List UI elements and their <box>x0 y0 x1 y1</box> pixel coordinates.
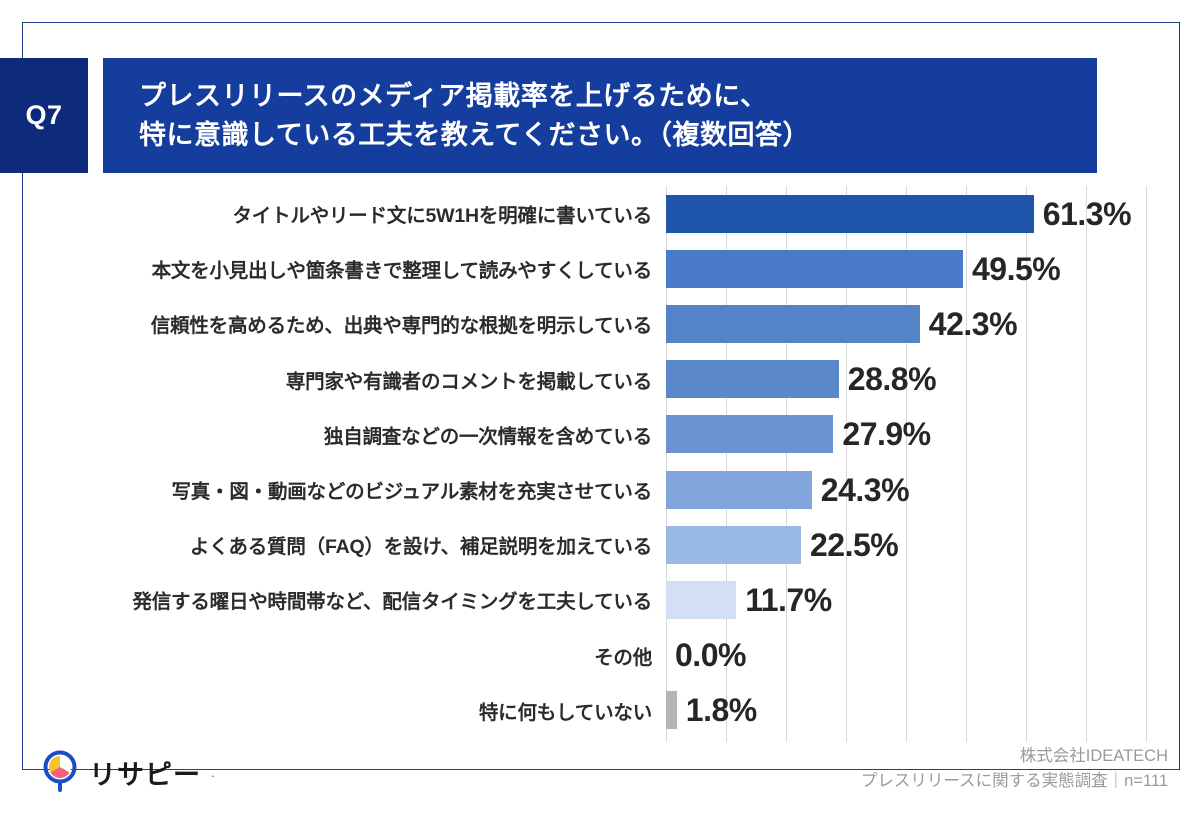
bar-category-label: よくある質問（FAQ）を設け、補足説明を加えている <box>46 530 666 559</box>
bar-rows: タイトルやリード文に5W1Hを明確に書いている61.3%本文を小見出しや箇条書き… <box>22 186 1180 738</box>
brand-name-dot: . <box>211 765 215 780</box>
bar <box>666 526 801 564</box>
bar <box>666 360 839 398</box>
bar-category-label: 本文を小見出しや箇条書きで整理して読みやすくしている <box>46 254 666 283</box>
bar-row: その他0.0% <box>22 628 1180 683</box>
bar-value-label: 24.3% <box>821 474 909 506</box>
survey-slide: Q7 プレスリリースのメディア掲載率を上げるために、 特に意識している工夫を教え… <box>0 0 1200 831</box>
magnifier-pie-chart-icon <box>40 750 80 794</box>
bar-row: タイトルやリード文に5W1Hを明確に書いている61.3% <box>22 186 1180 241</box>
brand-name: リサピー <box>89 753 201 792</box>
bar-value-label: 27.9% <box>842 418 930 450</box>
bar-value-label: 22.5% <box>810 529 898 561</box>
bar <box>666 471 812 509</box>
brand-logo: リサピー . <box>40 750 215 794</box>
bar-category-label: その他 <box>46 641 666 670</box>
source-credit: 株式会社IDEATECH プレスリリースに関する実態調査｜n=111 <box>861 744 1168 794</box>
bar-category-label: 独自調査などの一次情報を含めている <box>46 420 666 449</box>
bar-row: 専門家や有識者のコメントを掲載している28.8% <box>22 352 1180 407</box>
bar-category-label: 専門家や有識者のコメントを掲載している <box>46 365 666 394</box>
bar-row: 発信する曜日や時間帯など、配信タイミングを工夫している11.7% <box>22 572 1180 627</box>
bar <box>666 691 677 729</box>
question-title-bar: プレスリリースのメディア掲載率を上げるために、 特に意識している工夫を教えてくだ… <box>103 58 1097 173</box>
bar-category-label: 発信する曜日や時間帯など、配信タイミングを工夫している <box>46 585 666 614</box>
bar-row: よくある質問（FAQ）を設け、補足説明を加えている22.5% <box>22 517 1180 572</box>
bar-container: 27.9% <box>666 407 931 462</box>
survey-name: プレスリリースに関する実態調査｜n=111 <box>861 769 1168 794</box>
bar-row: 独自調査などの一次情報を含めている27.9% <box>22 407 1180 462</box>
bar-row: 特に何もしていない1.8% <box>22 683 1180 738</box>
bar-category-label: 信頼性を高めるため、出典や専門的な根拠を明示している <box>46 309 666 338</box>
bar-row: 信頼性を高めるため、出典や専門的な根拠を明示している42.3% <box>22 296 1180 351</box>
bar <box>666 415 833 453</box>
bar-value-label: 49.5% <box>972 253 1060 285</box>
bar-value-label: 0.0% <box>675 639 746 671</box>
slide-footer: リサピー . 株式会社IDEATECH プレスリリースに関する実態調査｜n=11… <box>0 742 1200 831</box>
question-title-text: プレスリリースのメディア掲載率を上げるために、 特に意識している工夫を教えてくだ… <box>103 77 810 154</box>
bar-category-label: 写真・図・動画などのビジュアル素材を充実させている <box>46 475 666 504</box>
bar-row: 本文を小見出しや箇条書きで整理して読みやすくしている49.5% <box>22 241 1180 296</box>
bar-value-label: 42.3% <box>929 308 1017 340</box>
bar <box>666 250 963 288</box>
bar-container: 49.5% <box>666 241 1060 296</box>
bar <box>666 581 736 619</box>
bar-container: 61.3% <box>666 186 1131 241</box>
bar-category-label: 特に何もしていない <box>46 696 666 725</box>
bar-value-label: 61.3% <box>1043 198 1131 230</box>
bar-category-label: タイトルやリード文に5W1Hを明確に書いている <box>46 199 666 228</box>
bar-row: 写真・図・動画などのビジュアル素材を充実させている24.3% <box>22 462 1180 517</box>
bar <box>666 195 1034 233</box>
bar-value-label: 28.8% <box>848 363 936 395</box>
company-name: 株式会社IDEATECH <box>861 744 1168 769</box>
question-number-label: Q7 <box>25 100 62 131</box>
question-number-badge: Q7 <box>0 58 88 173</box>
bar-value-label: 1.8% <box>686 694 757 726</box>
bar <box>666 305 920 343</box>
bar-container: 24.3% <box>666 462 909 517</box>
bar-chart: タイトルやリード文に5W1Hを明確に書いている61.3%本文を小見出しや箇条書き… <box>22 186 1180 742</box>
bar-container: 28.8% <box>666 352 936 407</box>
bar-value-label: 11.7% <box>745 584 831 616</box>
bar-container: 1.8% <box>666 683 757 738</box>
bar-container: 0.0% <box>666 628 746 683</box>
bar-container: 11.7% <box>666 572 832 627</box>
bar-container: 42.3% <box>666 296 1017 351</box>
bar-container: 22.5% <box>666 517 898 572</box>
